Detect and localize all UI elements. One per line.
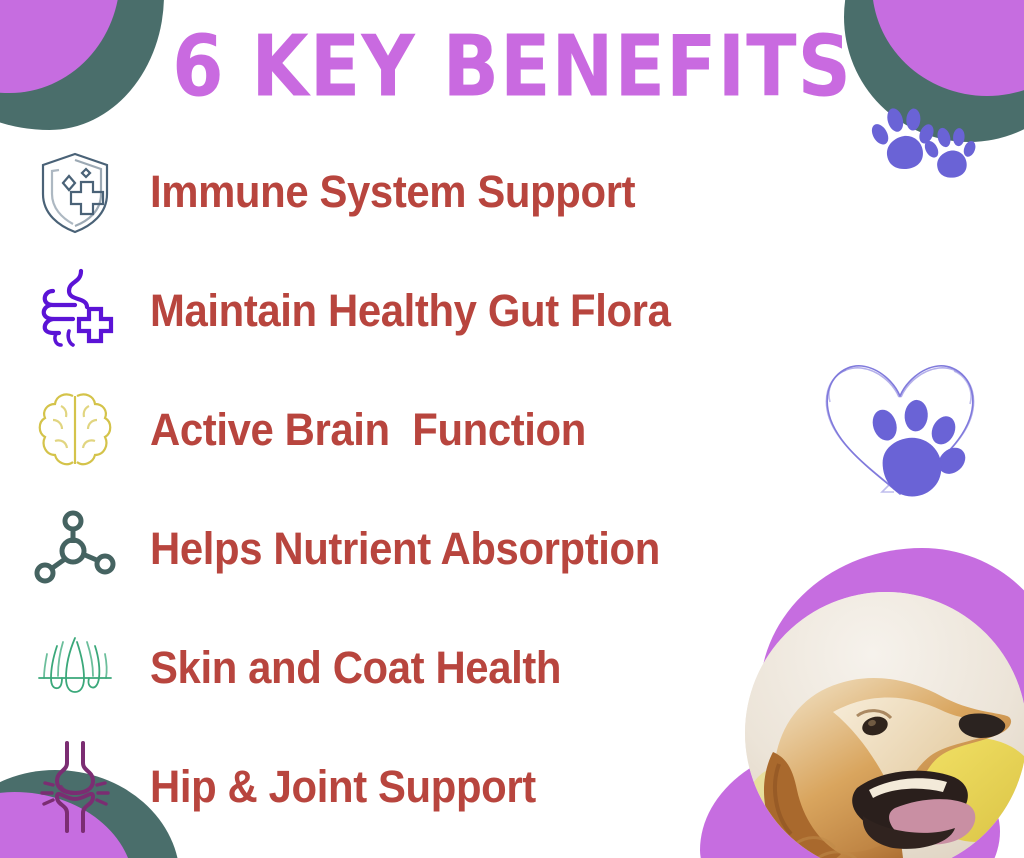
- benefits-poster: 6 Key Benefits: [0, 0, 1024, 858]
- benefit-row-skin: Skin and Coat Health: [0, 608, 760, 727]
- benefit-label: Immune System Support: [150, 166, 635, 218]
- benefit-label: Skin and Coat Health: [150, 642, 561, 694]
- benefit-row-immune: Immune System Support: [0, 132, 760, 251]
- heart-with-paw-icon: [812, 352, 987, 517]
- benefit-row-joint: Hip & Joint Support: [0, 727, 760, 846]
- page-title: 6 Key Benefits: [0, 18, 1024, 116]
- knee-joint-icon: [0, 741, 150, 833]
- benefit-row-brain: Active Brain Function: [0, 370, 760, 489]
- benefit-label: Helps Nutrient Absorption: [150, 523, 660, 575]
- brain-icon: [0, 384, 150, 476]
- hair-follicle-icon: [0, 622, 150, 714]
- golden-retriever-photo: [745, 592, 1024, 858]
- benefit-label: Hip & Joint Support: [150, 761, 536, 813]
- benefits-list: Immune System Support Maintain Healthy G…: [0, 132, 760, 846]
- molecule-icon: [0, 503, 150, 595]
- benefit-label: Maintain Healthy Gut Flora: [150, 285, 670, 337]
- intestine-cross-icon: [0, 265, 150, 357]
- paw-prints-icon: [862, 104, 982, 189]
- benefit-row-gut: Maintain Healthy Gut Flora: [0, 251, 760, 370]
- benefit-label: Active Brain Function: [150, 404, 586, 456]
- shield-cross-icon: [0, 146, 150, 238]
- benefit-row-nutrient: Helps Nutrient Absorption: [0, 489, 760, 608]
